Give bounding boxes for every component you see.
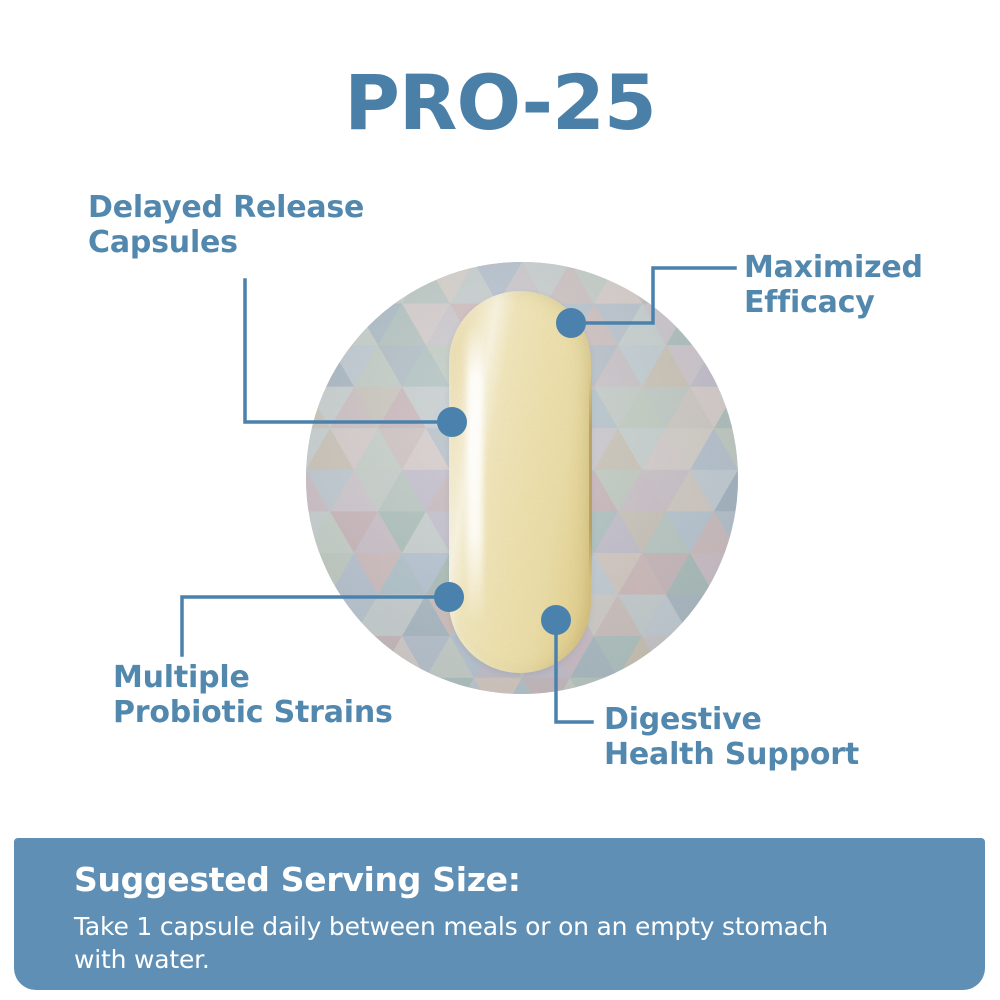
serving-heading: Suggested Serving Size: xyxy=(74,860,925,899)
callout-label-multiple-probiotic-strains: Multiple Probiotic Strains xyxy=(113,660,413,730)
callout-label-delayed-release: Delayed Release Capsules xyxy=(88,190,388,260)
callout-label-line1: Delayed Release xyxy=(88,190,388,225)
product-infographic: PRO-25 xyxy=(0,0,1000,1000)
callout-label-maximized-efficacy: Maximized Efficacy xyxy=(744,250,994,320)
suggested-serving-banner: Suggested Serving Size: Take 1 capsule d… xyxy=(14,838,985,990)
callout-label-line2: Probiotic Strains xyxy=(113,695,413,730)
callout-label-line1: Multiple xyxy=(113,660,413,695)
callout-label-line1: Digestive xyxy=(604,702,904,737)
callout-label-line2: Efficacy xyxy=(744,285,994,320)
capsule-seam xyxy=(589,375,592,581)
callout-label-line2: Health Support xyxy=(604,737,904,772)
callout-label-line2: Capsules xyxy=(88,225,388,260)
callout-label-line1: Maximized xyxy=(744,250,994,285)
serving-body-text: Take 1 capsule daily between meals or on… xyxy=(74,910,874,976)
capsule-highlight xyxy=(467,325,483,625)
product-figure: Delayed Release Capsules Maximized Effic… xyxy=(0,0,1000,840)
capsule-pill xyxy=(449,291,591,673)
callout-label-digestive-health-support: Digestive Health Support xyxy=(604,702,904,772)
